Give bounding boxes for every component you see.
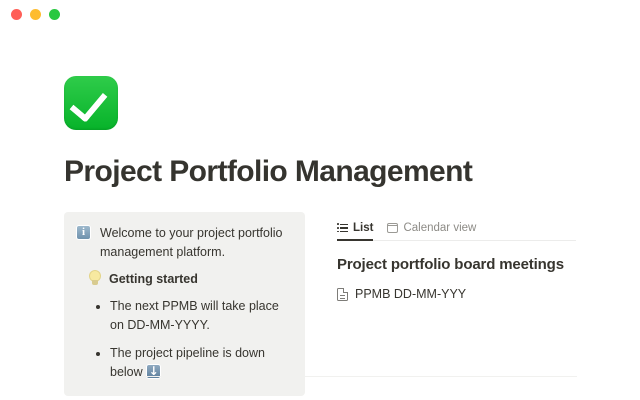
section-heading: Project portfolio board meetings <box>337 255 576 275</box>
window-controls <box>11 9 60 20</box>
maximize-button-icon[interactable] <box>49 9 60 20</box>
getting-started-row: Getting started <box>88 270 291 288</box>
list-icon <box>337 224 348 233</box>
calendar-icon <box>387 223 398 233</box>
page-title: Project Portfolio Management <box>64 154 576 190</box>
light-bulb-icon <box>88 271 102 287</box>
right-column: List Calendar view Project portfolio boa… <box>337 212 576 303</box>
content-columns: Welcome to your project portfolio manage… <box>64 212 576 396</box>
callout-bullet-list: The next PPMB will take place on DD-MM-Y… <box>76 297 291 382</box>
callout-block: Welcome to your project portfolio manage… <box>64 212 305 396</box>
list-item: The next PPMB will take place on DD-MM-Y… <box>88 297 291 335</box>
white-check-mark-icon <box>64 76 118 130</box>
close-button-icon[interactable] <box>11 9 22 20</box>
tab-list-label: List <box>353 221 373 235</box>
tab-list[interactable]: List <box>337 221 373 240</box>
callout-text: Welcome to your project portfolio manage… <box>100 224 291 262</box>
document-icon <box>337 288 348 301</box>
tab-calendar-view-label: Calendar view <box>403 221 476 235</box>
getting-started-label: Getting started <box>109 270 198 288</box>
left-column: Welcome to your project portfolio manage… <box>64 212 305 396</box>
bullet-text: The next PPMB will take place on DD-MM-Y… <box>110 299 279 332</box>
page-content: Project Portfolio Management Welcome to … <box>0 76 640 396</box>
information-icon <box>76 225 92 240</box>
page-icon[interactable] <box>64 76 118 130</box>
callout-intro-row: Welcome to your project portfolio manage… <box>76 224 291 262</box>
app-window: Project Portfolio Management Welcome to … <box>0 0 640 400</box>
window-titlebar <box>0 0 640 28</box>
view-tabbar: List Calendar view <box>337 216 576 241</box>
list-item-label: PPMB DD-MM-YYY <box>355 286 466 303</box>
bullet-text: The project pipeline is down below <box>110 346 265 379</box>
list-item[interactable]: PPMB DD-MM-YYY <box>337 286 576 303</box>
bottom-divider <box>64 376 577 377</box>
tab-calendar-view[interactable]: Calendar view <box>387 221 476 240</box>
minimize-button-icon[interactable] <box>30 9 41 20</box>
